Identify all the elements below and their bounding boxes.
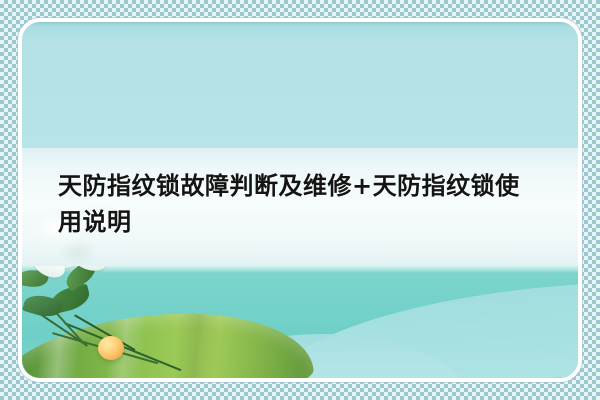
- teal-illustration-panel: [22, 266, 578, 378]
- card-inner: 天防指纹锁故障判断及维修+天防指纹锁使用说明: [22, 22, 578, 378]
- screenshot-canvas: 天防指纹锁故障判断及维修+天防指纹锁使用说明: [0, 0, 600, 400]
- page-title: 天防指纹锁故障判断及维修+天防指纹锁使用说明: [58, 168, 544, 240]
- rounded-card-frame: 天防指纹锁故障判断及维修+天防指纹锁使用说明: [18, 18, 582, 382]
- flower-cluster: [22, 266, 166, 374]
- light-blue-header-panel: [22, 22, 578, 158]
